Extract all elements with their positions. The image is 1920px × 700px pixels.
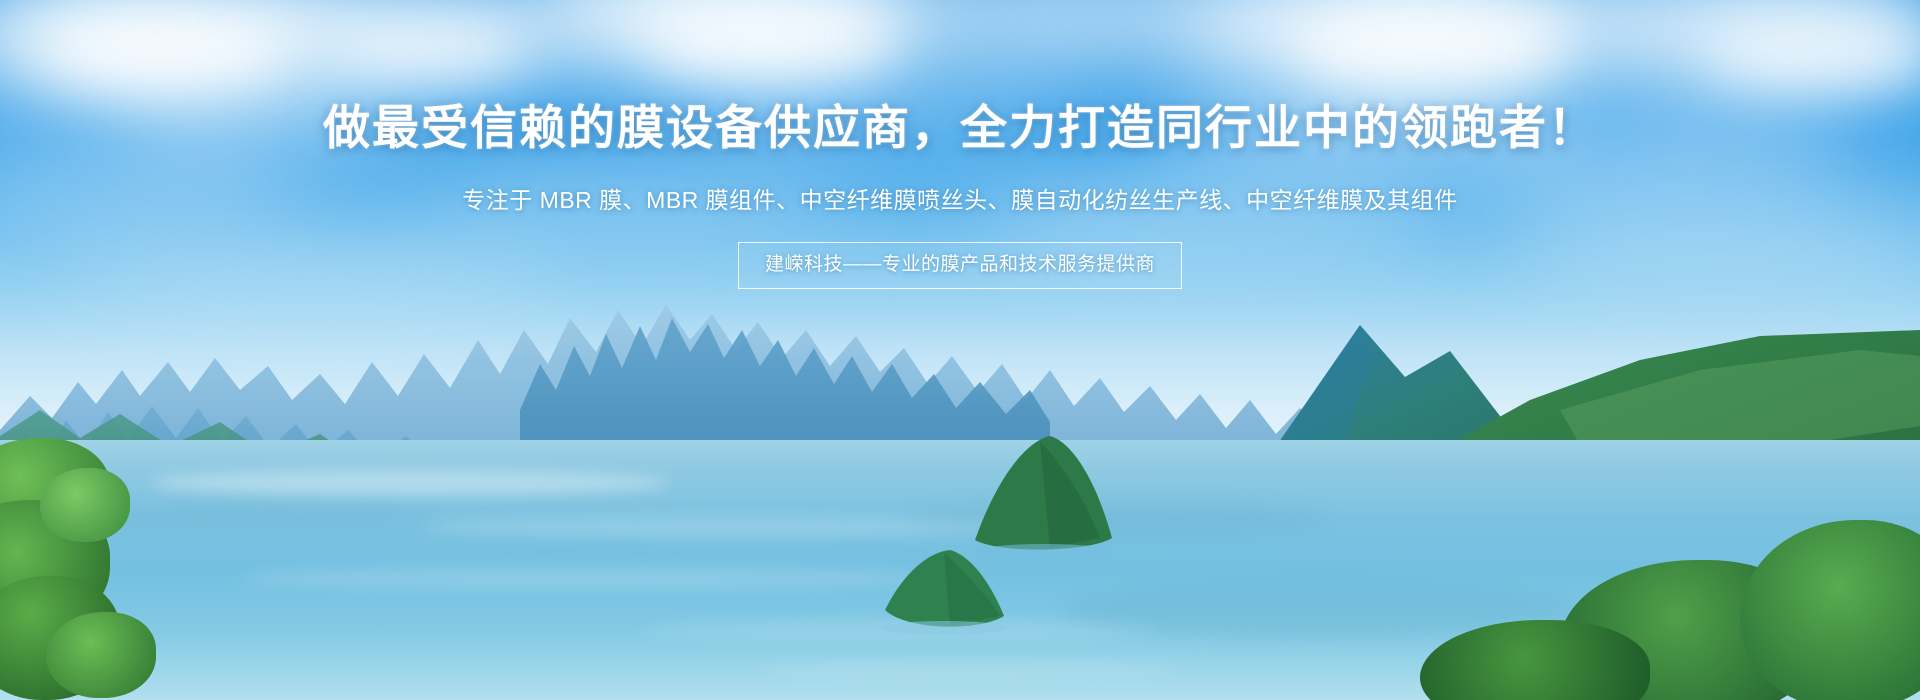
hero-banner: 做最受信赖的膜设备供应商，全力打造同行业中的领跑者！ 专注于 MBR 膜、MBR… xyxy=(0,0,1920,700)
banner-tagline-box[interactable]: 建嵘科技——专业的膜产品和技术服务提供商 xyxy=(738,242,1182,289)
